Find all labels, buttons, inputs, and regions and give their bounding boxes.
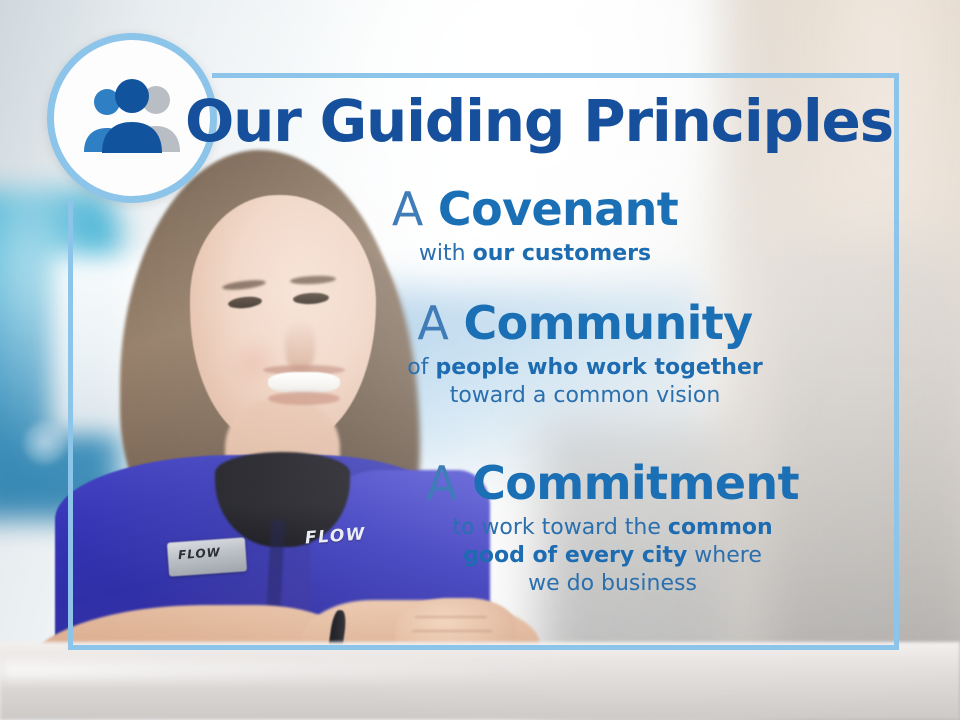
principle-keyword: Commitment [472, 456, 799, 510]
subtext-run: where [687, 543, 762, 568]
principle-commitment: A Commitment to work toward the commongo… [0, 460, 960, 598]
subtext-line: with our customers [110, 240, 960, 268]
subtext-emphasis: our customers [473, 241, 652, 266]
principle-article: A [426, 456, 457, 510]
frame-bottom-border [68, 645, 899, 650]
subtext-run: toward a common vision [450, 383, 721, 408]
guiding-principles-graphic: FLOW FLOW [0, 0, 960, 720]
principle-heading: A Covenant [110, 186, 960, 234]
subtext-run: of [407, 355, 435, 380]
desk-surface [0, 642, 960, 720]
principle-keyword: Covenant [438, 182, 678, 236]
subtext-line: we do business [265, 570, 960, 598]
principle-article: A [392, 182, 423, 236]
frame-top-border [212, 73, 899, 78]
principle-heading: A Community [210, 300, 960, 348]
subtext-run: we do business [528, 571, 697, 596]
principle-subtext: of people who work togethertoward a comm… [210, 354, 960, 410]
principle-community: A Community of people who work togethert… [0, 300, 960, 410]
subtext-line: toward a common vision [210, 382, 960, 410]
principle-covenant: A Covenant with our customers [0, 186, 960, 268]
principle-subtext: to work toward the commongood of every c… [265, 514, 960, 598]
principle-heading: A Commitment [265, 460, 960, 508]
subtext-line: of people who work together [210, 354, 960, 382]
subtext-emphasis: people who work together [435, 355, 762, 380]
page-title: Our Guiding Principles [0, 92, 960, 150]
finger-line [415, 616, 487, 618]
principle-article: A [417, 296, 448, 350]
subtext-run: to work toward the [452, 515, 668, 540]
subtext-emphasis: common [668, 515, 773, 540]
desk-highlight [0, 660, 600, 680]
subtext-run: with [419, 241, 473, 266]
principle-subtext: with our customers [110, 240, 960, 268]
principle-keyword: Community [464, 296, 753, 350]
finger-line [412, 630, 492, 632]
subtext-emphasis: good of every city [463, 543, 687, 568]
subtext-line: to work toward the common [265, 514, 960, 542]
subtext-line: good of every city where [265, 542, 960, 570]
